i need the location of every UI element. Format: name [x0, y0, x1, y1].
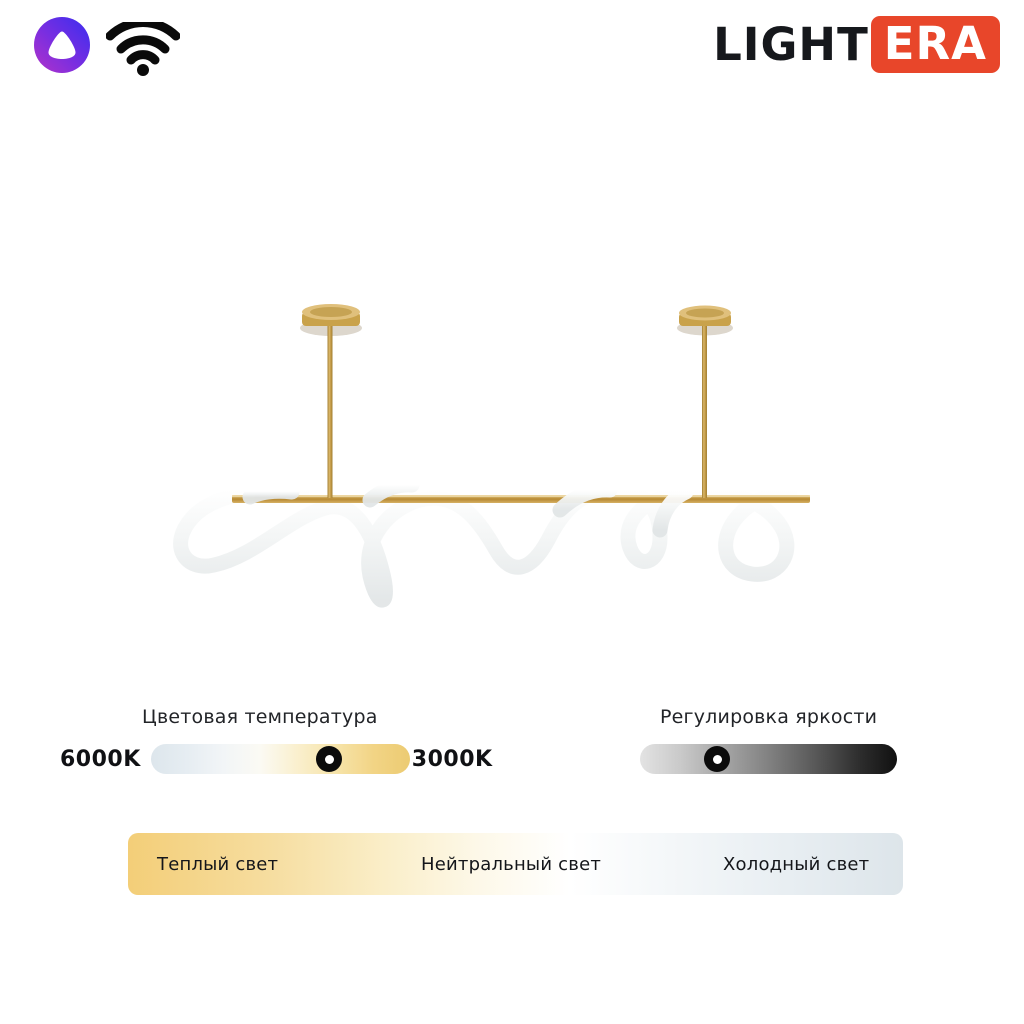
- color-temperature-label: Цветовая температура: [142, 706, 378, 728]
- ceiling-mount-right: [677, 306, 733, 499]
- brand-logo-primary: LIGHT: [713, 22, 871, 67]
- brightness-slider-handle[interactable]: [704, 746, 730, 772]
- brand-logo: LIGHT ERA: [713, 18, 1000, 70]
- top-bar: LIGHT ERA: [0, 0, 1024, 104]
- color-temperature-max-label: 3000K: [412, 747, 493, 772]
- color-temperature-slider-row: 6000K 3000K: [60, 744, 493, 774]
- brightness-group: Регулировка яркости: [512, 690, 1024, 800]
- preset-cold-light[interactable]: Холодный свет: [723, 854, 869, 875]
- lamp-horizontal-bar: [232, 495, 810, 503]
- brightness-slider-row: [640, 744, 897, 774]
- light-mode-preset-bar: Теплый свет Нейтральный свет Холодный св…: [128, 833, 903, 895]
- color-temperature-min-label: 6000K: [60, 747, 141, 772]
- color-temperature-slider-handle[interactable]: [316, 746, 342, 772]
- brightness-label: Регулировка яркости: [660, 706, 877, 728]
- color-temperature-slider[interactable]: [151, 744, 410, 774]
- preset-neutral-light[interactable]: Нейтральный свет: [421, 854, 601, 875]
- product-image: [0, 140, 1024, 680]
- led-tube: [181, 490, 790, 600]
- brand-logo-accent: ERA: [871, 16, 1000, 73]
- ceiling-mount-left: [300, 304, 362, 498]
- preset-warm-light[interactable]: Теплый свет: [157, 854, 278, 875]
- wifi-icon[interactable]: [106, 22, 180, 76]
- color-temperature-group: Цветовая температура 6000K 3000K: [0, 690, 512, 800]
- yandex-alice-icon[interactable]: [33, 16, 91, 74]
- brightness-slider[interactable]: [640, 744, 897, 774]
